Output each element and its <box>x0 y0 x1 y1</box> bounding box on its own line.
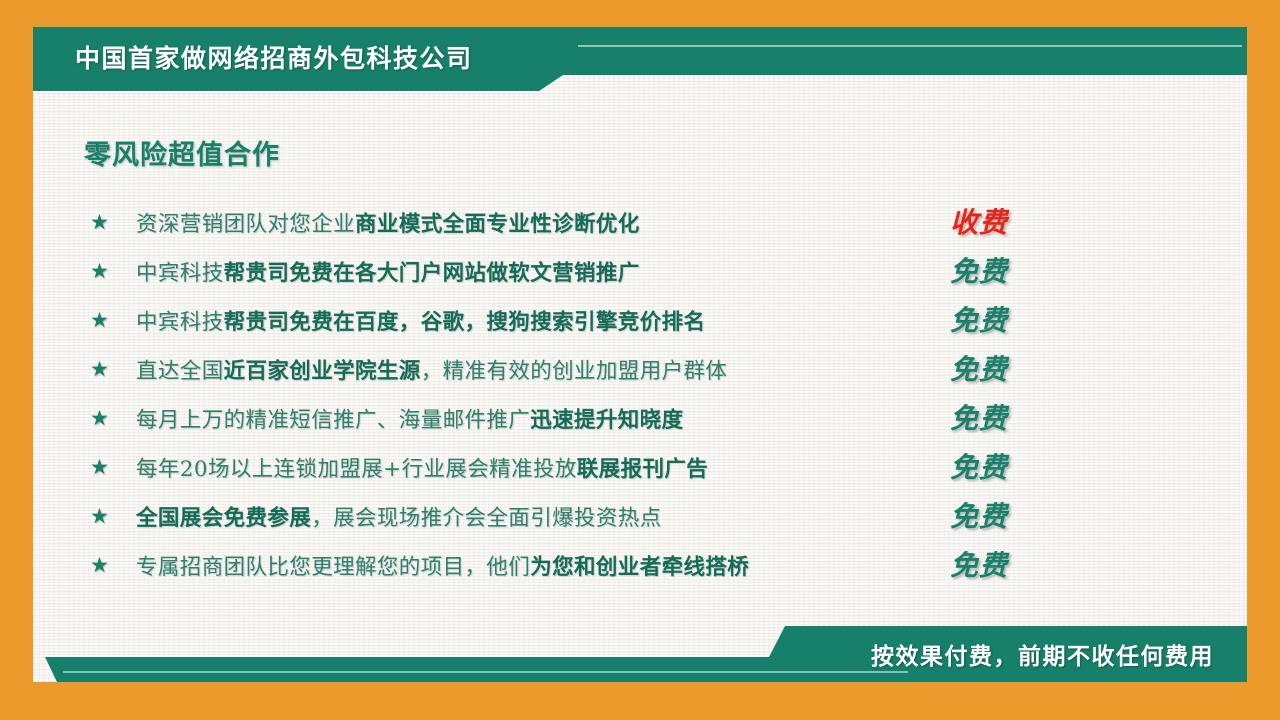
benefit-text-plain: 直达全国 <box>136 359 224 384</box>
star-bullet-icon: ★ <box>90 310 136 331</box>
benefit-text: 专属招商团队比您更理解您的项目，他们为您和创业者牵线搭桥 <box>136 550 940 581</box>
benefit-row: ★中宾科技帮贵司免费在百度，谷歌，搜狗搜索引擎竞价排名 <box>90 296 940 345</box>
benefit-text-plain: ，精准有效的创业加盟用户群体 <box>421 359 728 384</box>
benefit-text: 每年20场以上连锁加盟展+行业展会精准投放联展报刊广告 <box>136 452 940 483</box>
price-tag-free: 免费 <box>950 348 1008 388</box>
benefit-text-plain: 中宾科技 <box>136 261 224 286</box>
benefit-text-plain: 中宾科技 <box>136 310 224 335</box>
price-tag-row: 免费 <box>950 294 1080 343</box>
benefit-row: ★每年20场以上连锁加盟展+行业展会精准投放联展报刊广告 <box>90 443 940 492</box>
benefit-text: 每月上万的精准短信推广、海量邮件推广迅速提升知晓度 <box>136 403 940 434</box>
header-notch-shape <box>33 75 563 91</box>
benefit-text-emphasis: 帮贵司免费在百度，谷歌，搜狗搜索引擎竞价排名 <box>224 310 706 335</box>
benefit-text-emphasis: 联展报刊广告 <box>577 457 708 482</box>
price-tag-free: 免费 <box>950 299 1008 339</box>
star-bullet-icon: ★ <box>90 408 136 429</box>
benefit-text-emphasis: 为您和创业者牵线搭桥 <box>530 555 749 580</box>
price-tag-free: 免费 <box>950 495 1008 535</box>
benefit-text: 资深营销团队对您企业商业模式全面专业性诊断优化 <box>136 207 940 238</box>
price-tag-row: 免费 <box>950 539 1080 588</box>
benefit-text-plain: 专属招商团队比您更理解您的项目，他们 <box>136 555 530 580</box>
price-tag-free: 免费 <box>950 250 1008 290</box>
price-tag-row: 免费 <box>950 441 1080 490</box>
price-tag-column: 收费免费免费免费免费免费免费免费 <box>950 196 1080 588</box>
price-tag-row: 免费 <box>950 490 1080 539</box>
price-tag-row: 免费 <box>950 245 1080 294</box>
benefit-row: ★中宾科技帮贵司免费在各大门户网站做软文营销推广 <box>90 247 940 296</box>
benefit-row: ★全国展会免费参展，展会现场推介会全面引爆投资热点 <box>90 492 940 541</box>
benefit-text-emphasis: 帮贵司免费在各大门户网站做软文营销推广 <box>224 261 640 286</box>
benefit-row: ★每月上万的精准短信推广、海量邮件推广迅速提升知晓度 <box>90 394 940 443</box>
footer-divider-line <box>63 671 908 673</box>
price-tag-row: 收费 <box>950 196 1080 245</box>
benefit-text-plain: ，展会现场推介会全面引爆投资热点 <box>311 506 661 531</box>
benefit-text-emphasis: 迅速提升知晓度 <box>530 408 683 433</box>
footer-tagline: 按效果付费，前期不收任何费用 <box>871 637 1214 671</box>
benefit-text-plain: 每年20场以上连锁加盟展+行业展会精准投放 <box>136 457 577 482</box>
benefit-text-plain: 资深营销团队对您企业 <box>136 212 355 237</box>
header-divider-line <box>578 45 1242 47</box>
price-tag-free: 免费 <box>950 446 1008 486</box>
price-tag-paid: 收费 <box>950 201 1008 241</box>
price-tag-free: 免费 <box>950 397 1008 437</box>
benefit-text: 全国展会免费参展，展会现场推介会全面引爆投资热点 <box>136 501 940 532</box>
benefit-row: ★专属招商团队比您更理解您的项目，他们为您和创业者牵线搭桥 <box>90 541 940 590</box>
footer-band: 按效果付费，前期不收任何费用 <box>33 626 1247 682</box>
benefit-text: 直达全国近百家创业学院生源，精准有效的创业加盟用户群体 <box>136 354 940 385</box>
price-tag-row: 免费 <box>950 392 1080 441</box>
star-bullet-icon: ★ <box>90 555 136 576</box>
benefit-text: 中宾科技帮贵司免费在各大门户网站做软文营销推广 <box>136 256 940 287</box>
benefits-list: ★资深营销团队对您企业商业模式全面专业性诊断优化★中宾科技帮贵司免费在各大门户网… <box>90 198 940 590</box>
star-bullet-icon: ★ <box>90 359 136 380</box>
benefit-text-emphasis: 近百家创业学院生源 <box>224 359 421 384</box>
benefit-text-emphasis: 商业模式全面专业性诊断优化 <box>355 212 640 237</box>
header-title: 中国首家做网络招商外包科技公司 <box>75 39 473 75</box>
benefit-text-plain: 每月上万的精准短信推广、海量邮件推广 <box>136 408 530 433</box>
price-tag-free: 免费 <box>950 544 1008 584</box>
star-bullet-icon: ★ <box>90 212 136 233</box>
benefit-text-emphasis: 全国展会免费参展 <box>136 506 311 531</box>
price-tag-row: 免费 <box>950 343 1080 392</box>
section-title: 零风险超值合作 <box>84 133 280 172</box>
header-band: 中国首家做网络招商外包科技公司 <box>33 27 1247 75</box>
star-bullet-icon: ★ <box>90 506 136 527</box>
benefit-row: ★直达全国近百家创业学院生源，精准有效的创业加盟用户群体 <box>90 345 940 394</box>
star-bullet-icon: ★ <box>90 261 136 282</box>
star-bullet-icon: ★ <box>90 457 136 478</box>
slide-root: 中国首家做网络招商外包科技公司 零风险超值合作 ★资深营销团队对您企业商业模式全… <box>0 0 1280 720</box>
benefit-text: 中宾科技帮贵司免费在百度，谷歌，搜狗搜索引擎竞价排名 <box>136 305 940 336</box>
benefit-row: ★资深营销团队对您企业商业模式全面专业性诊断优化 <box>90 198 940 247</box>
